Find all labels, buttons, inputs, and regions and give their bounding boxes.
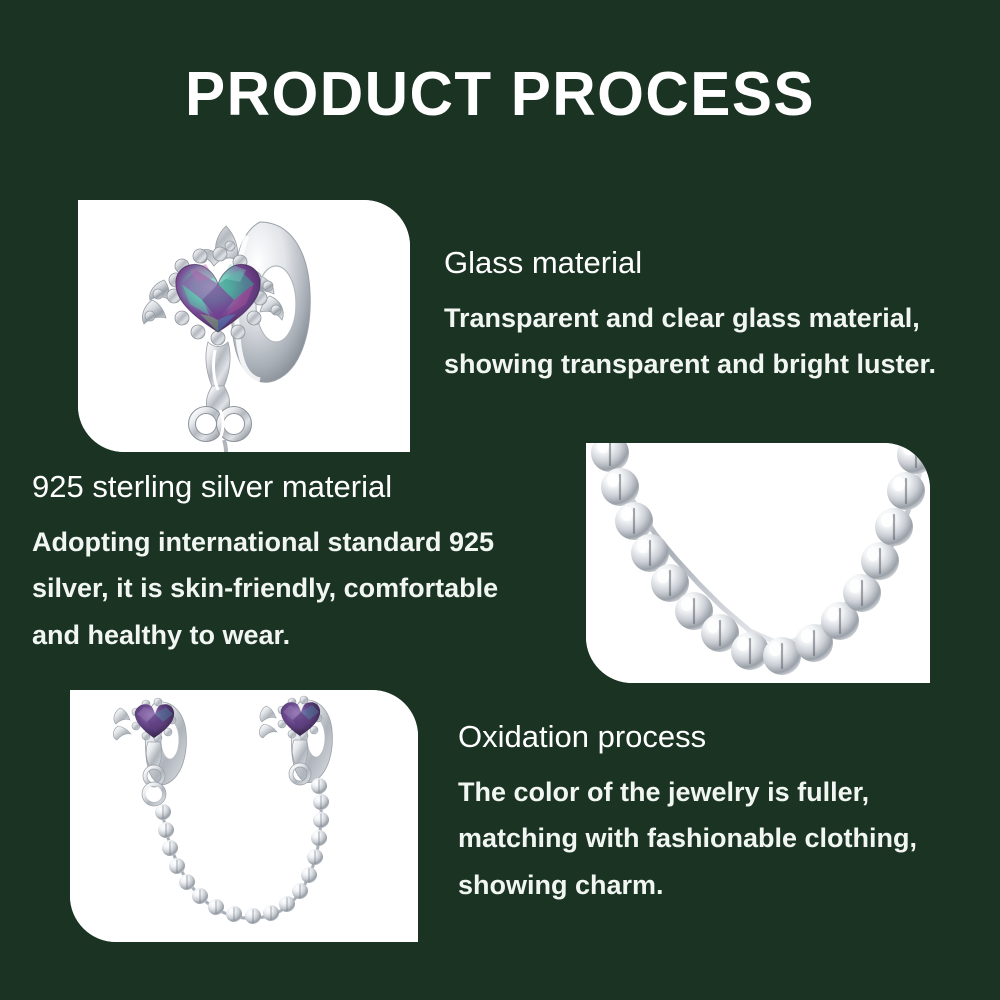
section-heading: Oxidation process	[458, 720, 917, 755]
section-body-line: showing transparent and bright luster.	[444, 341, 936, 387]
safety-chain-photo	[70, 690, 418, 942]
section-body-line: and healthy to wear.	[32, 612, 498, 658]
section-body-line: matching with fashionable clothing,	[458, 815, 917, 861]
section-oxidation-process: Oxidation process The color of the jewel…	[458, 720, 917, 908]
section-sterling-silver-material: 925 sterling silver material Adopting in…	[32, 470, 498, 658]
bead-safety-chain	[155, 778, 329, 924]
left-charm-clip	[113, 698, 186, 806]
section-body-line: showing charm.	[458, 862, 917, 908]
section-body-line: The color of the jewelry is fuller,	[458, 769, 917, 815]
section-body-line: Transparent and clear glass material,	[444, 295, 936, 341]
charm-bead-photo	[78, 200, 410, 452]
section-body-line: silver, it is skin-friendly, comfortable	[32, 565, 498, 611]
section-body-line: Adopting international standard 925	[32, 519, 498, 565]
bead-necklace-photo-card	[586, 443, 930, 683]
bead-necklace-illustration	[586, 443, 930, 683]
safety-chain-illustration	[70, 690, 418, 942]
charm-bead-photo-card	[78, 200, 410, 452]
product-process-infographic: PRODUCT PROCESS	[0, 0, 1000, 1000]
right-charm-clip	[259, 696, 332, 785]
bead-necklace-photo	[586, 443, 930, 683]
bead-chain	[591, 443, 930, 675]
section-glass-material: Glass material Transparent and clear gla…	[444, 246, 936, 388]
section-heading: Glass material	[444, 246, 936, 281]
section-heading: 925 sterling silver material	[32, 470, 498, 505]
page-title: PRODUCT PROCESS	[15, 64, 985, 126]
safety-chain-photo-card	[70, 690, 418, 942]
charm-bead-illustration	[78, 200, 410, 452]
